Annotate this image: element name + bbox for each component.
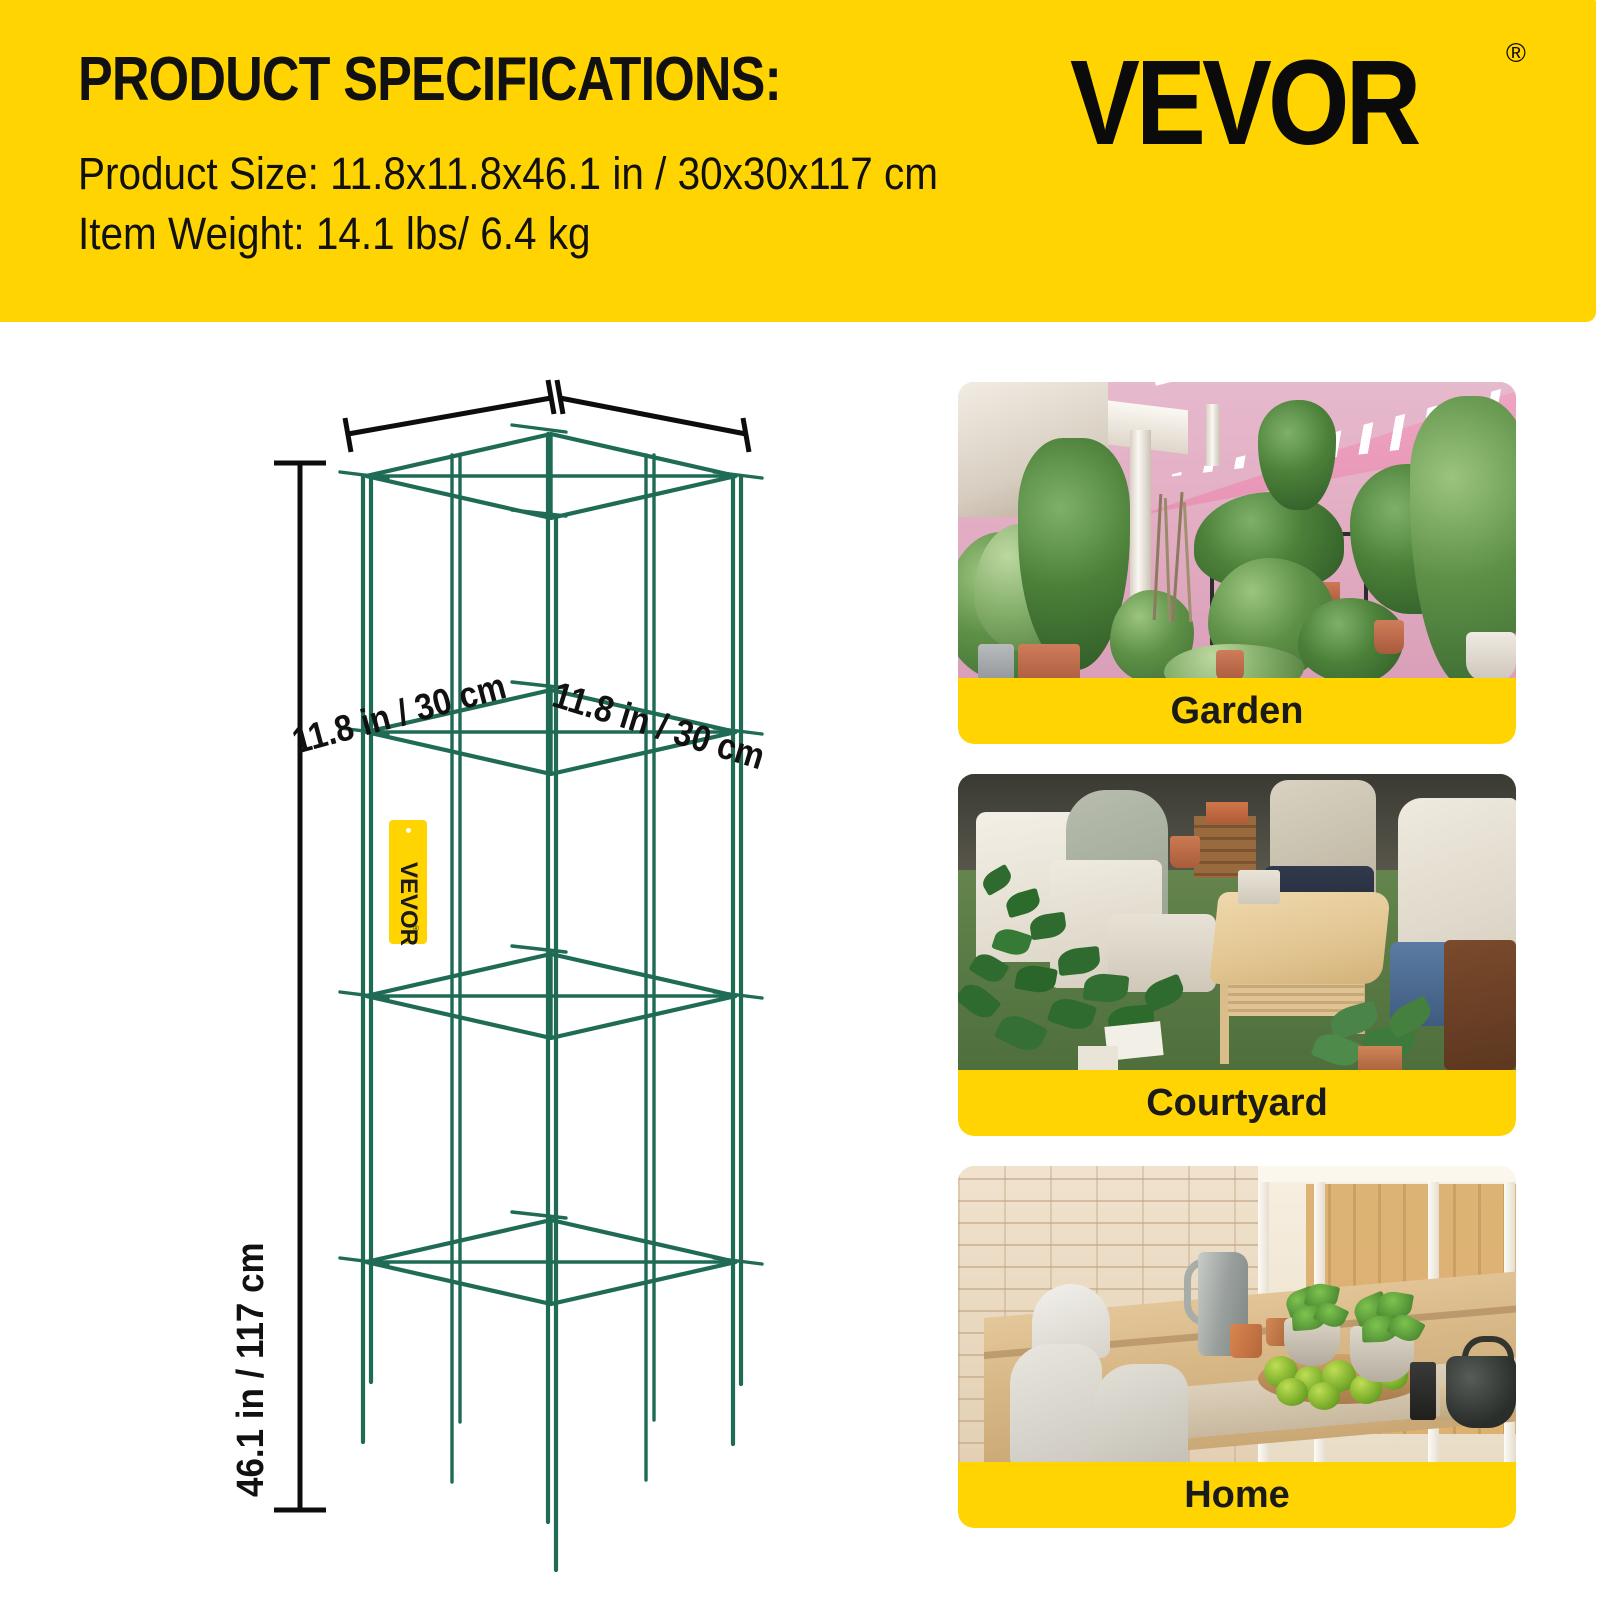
courtyard-photo xyxy=(958,774,1516,1074)
home-photo xyxy=(958,1166,1516,1466)
courtyard-caption-label: Courtyard xyxy=(1146,1082,1328,1125)
use-case-card-courtyard[interactable]: Courtyard xyxy=(958,774,1516,1136)
garden-caption-label: Garden xyxy=(1170,690,1303,733)
garden-photo xyxy=(958,382,1516,682)
product-size-text: Product Size: 11.8x11.8x46.1 in / 30x30x… xyxy=(78,148,938,200)
cage-ring-bottom xyxy=(340,1212,762,1304)
hang-tag-label: VEVOR xyxy=(389,842,427,966)
garden-caption-bar: Garden xyxy=(958,678,1516,744)
cage-ring-top xyxy=(340,425,762,518)
use-case-card-garden[interactable]: Garden xyxy=(958,382,1516,744)
specifications-header-band: PRODUCT SPECIFICATIONS: Product Size: 11… xyxy=(0,0,1596,322)
product-dimension-diagram: .wire{stroke:#1F6B55;stroke-width:4.2;fi… xyxy=(0,322,930,1600)
home-caption-label: Home xyxy=(1184,1474,1290,1517)
page-title: PRODUCT SPECIFICATIONS: xyxy=(78,44,781,115)
hang-tag-hole-icon xyxy=(406,828,411,833)
dimension-label-height: 46.1 in / 117 cm xyxy=(230,1242,273,1497)
registered-trademark-icon: ® xyxy=(1506,38,1526,69)
tomato-cage-wireframe: .wire{stroke:#1F6B55;stroke-width:4.2;fi… xyxy=(0,322,930,1600)
home-caption-bar: Home xyxy=(958,1462,1516,1528)
vertical-dimension-line xyxy=(274,463,326,1510)
use-case-cards: Garden xyxy=(958,382,1516,1562)
vevor-wordmark: VEVOR xyxy=(1070,32,1417,172)
vevor-logo: VEVOR ® xyxy=(1070,32,1550,142)
hang-tag-registered-icon: ® xyxy=(413,924,419,933)
courtyard-caption-bar: Courtyard xyxy=(958,1070,1516,1136)
item-weight-text: Item Weight: 14.1 lbs/ 6.4 kg xyxy=(78,208,591,260)
use-case-card-home[interactable]: Home xyxy=(958,1166,1516,1528)
vevor-hang-tag: VEVOR ® xyxy=(389,820,427,944)
